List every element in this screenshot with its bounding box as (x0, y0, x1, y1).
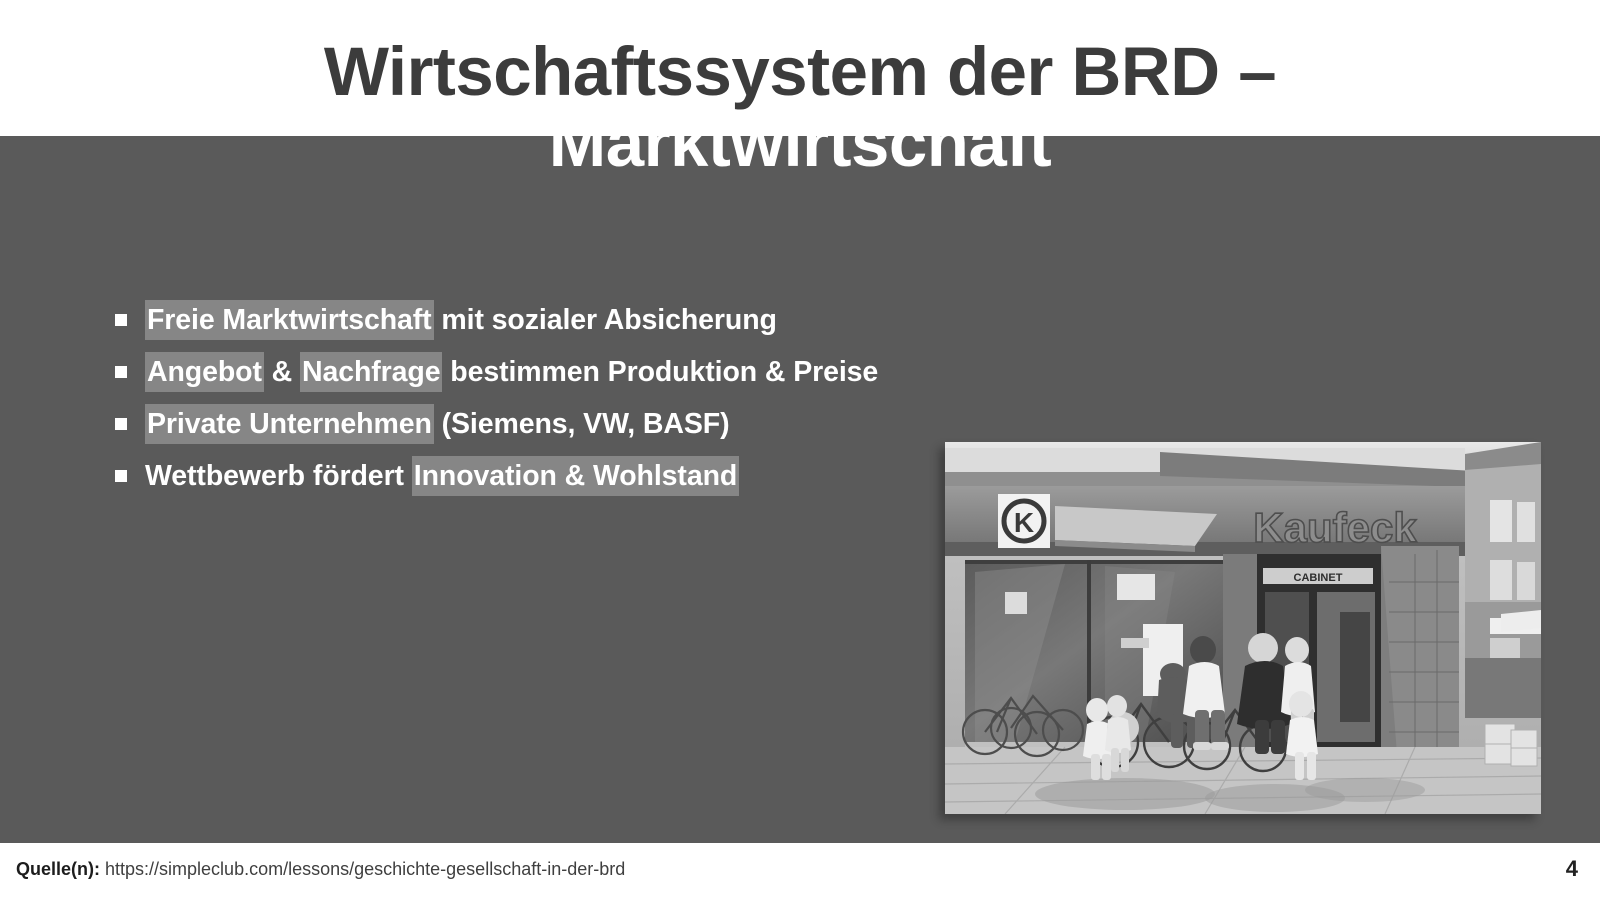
highlight-span: Innovation & Wohlstand (412, 456, 739, 496)
svg-text:K: K (1014, 507, 1034, 538)
list-item-text: Private Unternehmen (Siemens, VW, BASF) (145, 406, 730, 442)
list-item: Freie Marktwirtschaft mit sozialer Absic… (115, 302, 1015, 338)
list-item-text: Freie Marktwirtschaft mit sozialer Absic… (145, 302, 777, 338)
bullet-list: Freie Marktwirtschaft mit sozialer Absic… (115, 302, 1015, 510)
highlight-span: Freie Marktwirtschaft (145, 300, 434, 340)
square-bullet-icon (115, 366, 127, 378)
list-item: Wettbewerb fördert Innovation & Wohlstan… (115, 458, 1015, 494)
square-bullet-icon (115, 314, 127, 326)
highlight-span: Nachfrage (300, 352, 442, 392)
plain-span: mit sozialer Absicherung (434, 304, 777, 336)
highlight-span: Angebot (145, 352, 264, 392)
page-number: 4 (1566, 856, 1578, 882)
list-item-text: Wettbewerb fördert Innovation & Wohlstan… (145, 458, 739, 494)
slide-footer: Quelle(n): https://simpleclub.com/lesson… (0, 843, 1600, 900)
square-bullet-icon (115, 470, 127, 482)
list-item: Private Unternehmen (Siemens, VW, BASF) (115, 406, 1015, 442)
plain-span: Wettbewerb fördert (145, 460, 412, 492)
shop-sign-text: Kaufeck (1253, 504, 1417, 551)
slide: Wirtschaftssystem der BRD – Marktwirtsch… (0, 0, 1600, 900)
plain-span: (Siemens, VW, BASF) (434, 408, 730, 440)
title-line-primary: Wirtschaftssystem der BRD – (0, 36, 1600, 107)
list-item-text: Angebot & Nachfrage bestimmen Produktion… (145, 354, 878, 390)
source-label: Quelle(n): (16, 859, 100, 879)
list-item: Angebot & Nachfrage bestimmen Produktion… (115, 354, 1015, 390)
source-url[interactable]: https://simpleclub.com/lessons/geschicht… (105, 859, 625, 879)
plain-span: bestimmen Produktion & Preise (442, 356, 878, 388)
square-bullet-icon (115, 418, 127, 430)
slide-photo: K Kaufeck CABINET (945, 442, 1541, 814)
highlight-span: Private Unternehmen (145, 404, 434, 444)
plain-span: & (264, 356, 300, 388)
door-sign-text: CABINET (1294, 572, 1343, 584)
source-citation: Quelle(n): https://simpleclub.com/lesson… (16, 859, 625, 880)
photo-illustration: K Kaufeck CABINET (945, 442, 1541, 814)
